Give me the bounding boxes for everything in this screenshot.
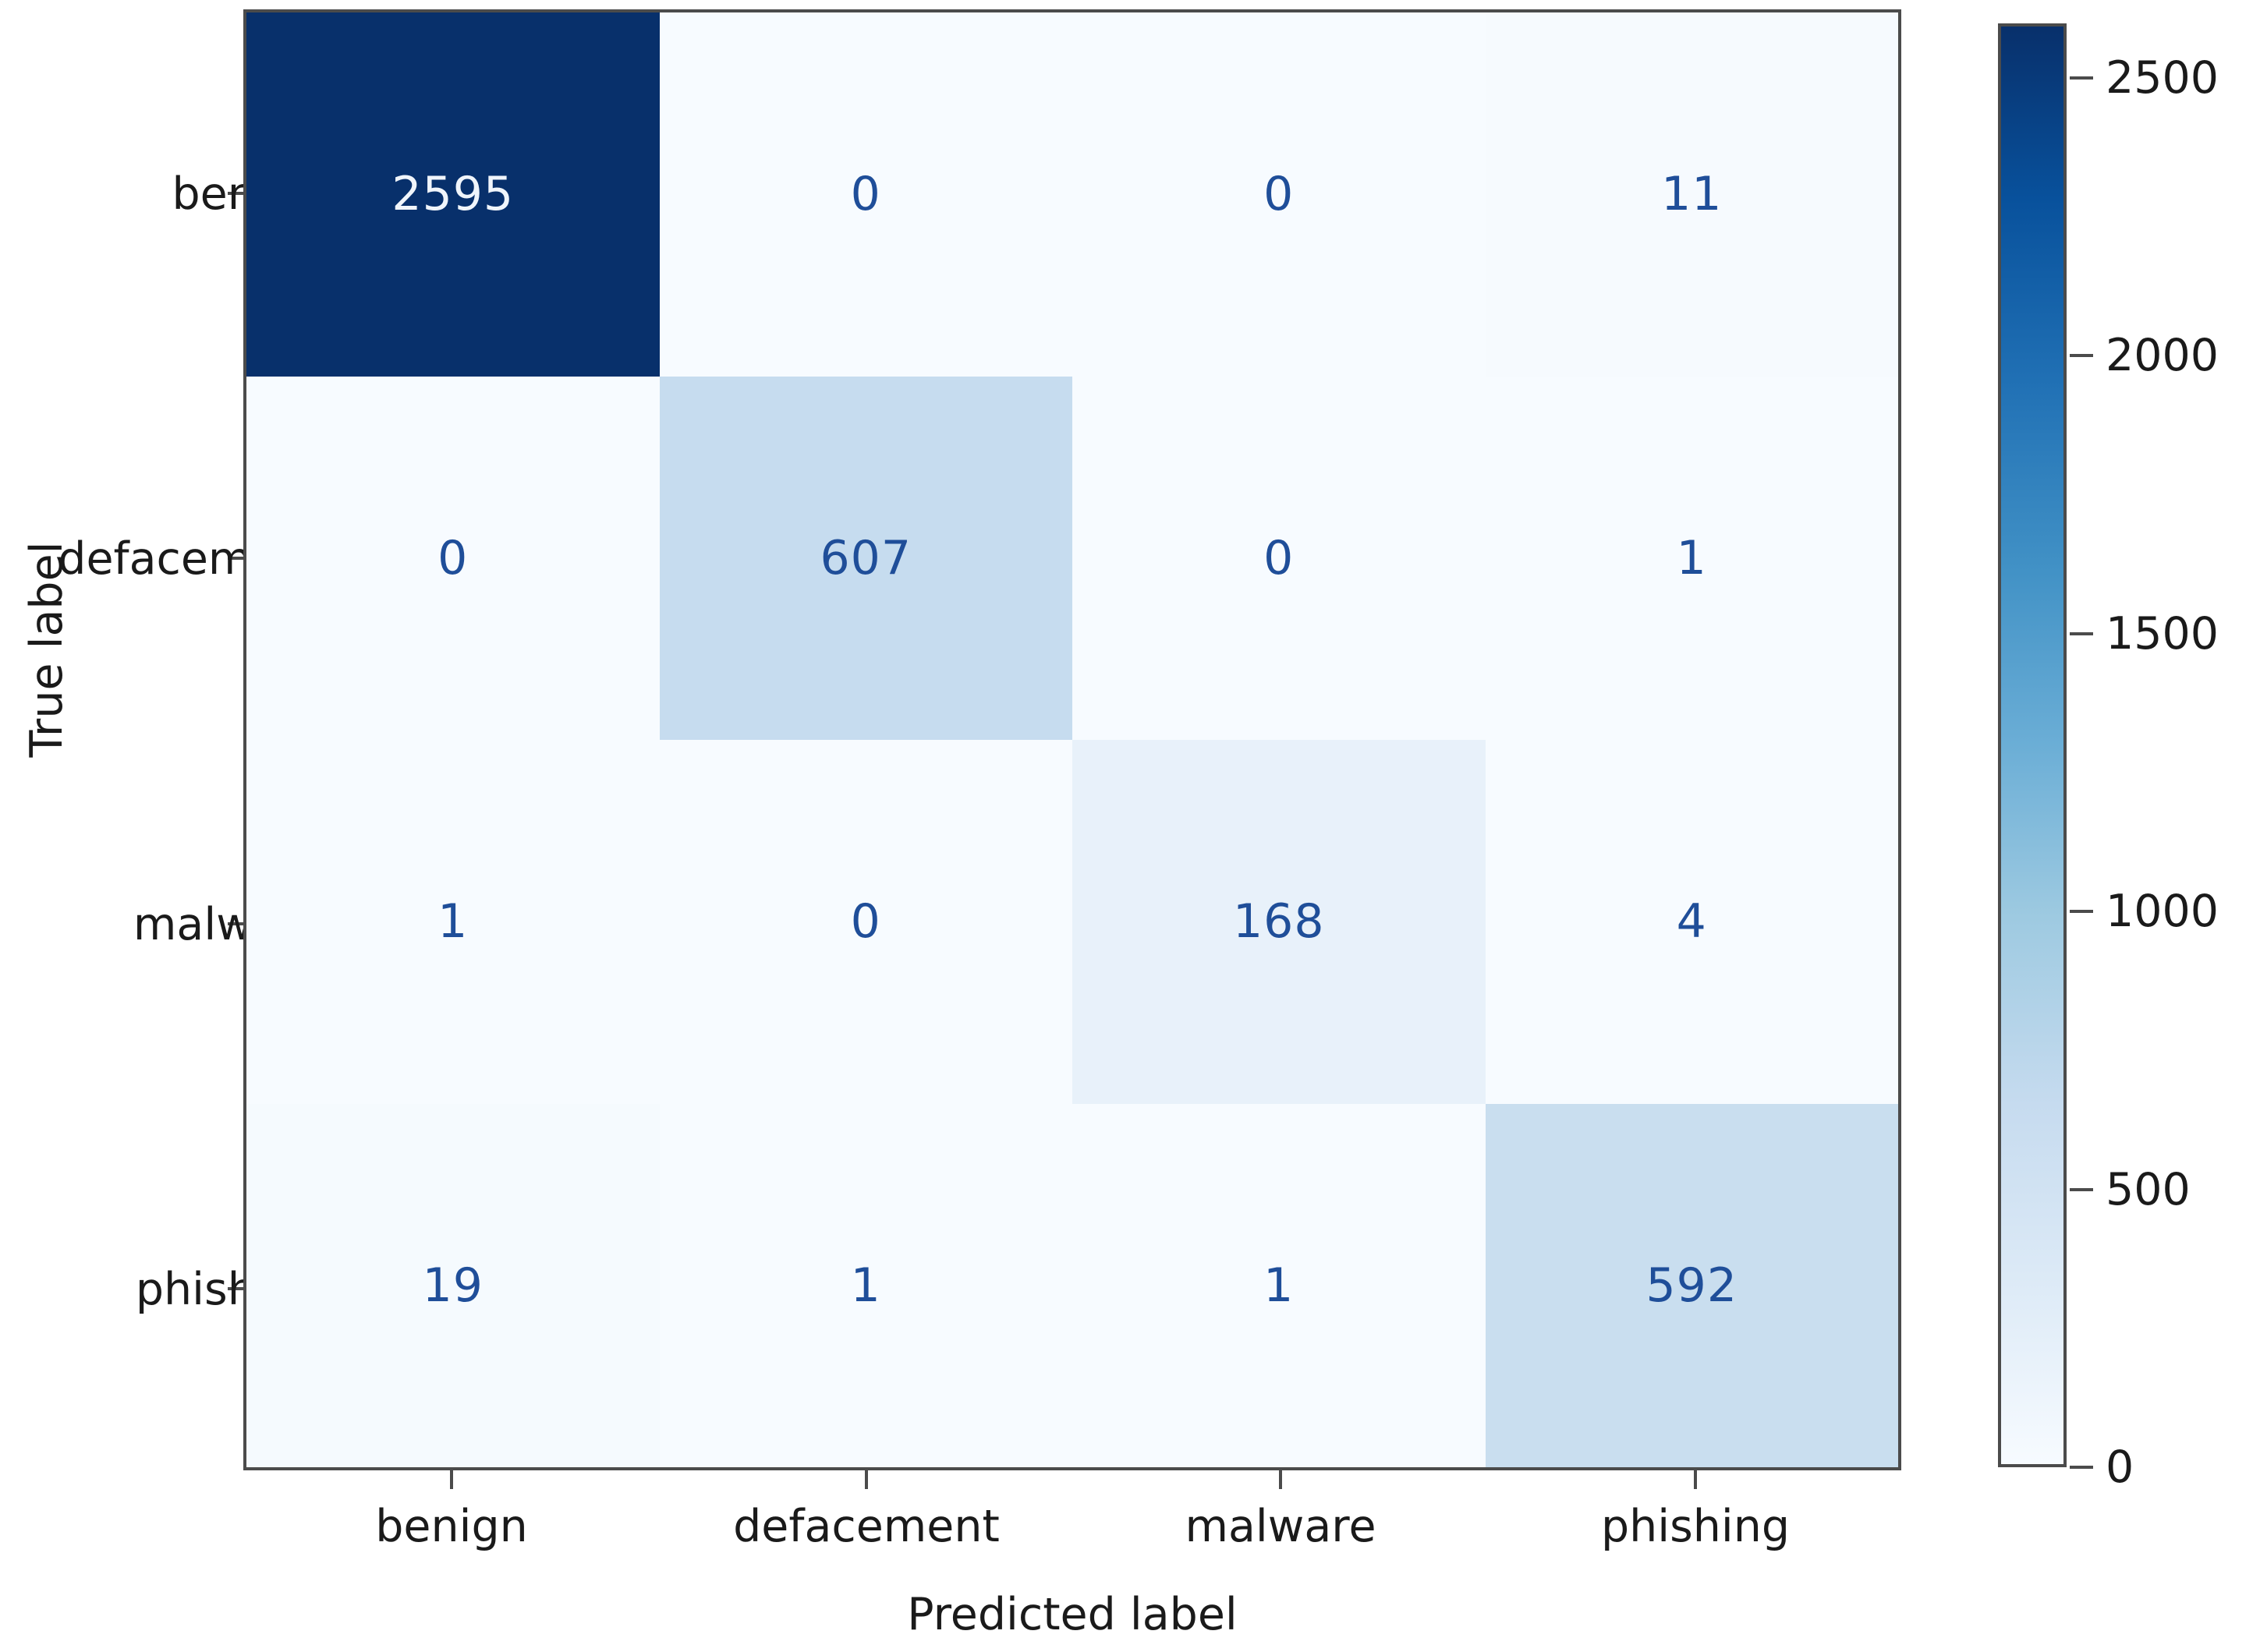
heatmap-cell-benign-defacement: 0 [660,12,1073,377]
confusion-matrix-figure: True label benign defacement malware phi… [0,0,2260,1652]
colorbar-tick-label-1000: 1000 [2106,886,2219,937]
heatmap-cell-defacement-benign: 0 [246,377,660,741]
heatmap-cell-benign-malware: 0 [1072,12,1486,377]
cell-value: 592 [1645,1262,1738,1309]
cell-value: 1 [851,1262,881,1309]
cell-value: 1 [1677,535,1707,582]
cell-value: 0 [851,898,881,945]
heatmap-cell-defacement-malware: 0 [1072,377,1486,741]
cell-value: 0 [1263,171,1294,218]
colorbar [1998,23,2067,1467]
cell-value: 0 [851,171,881,218]
cell-value: 0 [437,535,468,582]
heatmap-cell-phishing-defacement: 1 [660,1104,1073,1468]
heatmap-cell-phishing-benign: 19 [246,1104,660,1468]
colorbar-tick-mark-1500 [2070,632,2093,635]
x-tick-label-malware: malware [1047,1501,1514,1552]
heatmap-cell-defacement-defacement: 607 [660,377,1073,741]
colorbar-tick-mark-1000 [2070,910,2093,913]
x-tick-mark-2 [1279,1470,1282,1489]
x-axis-title: Predicted label [243,1589,1901,1640]
heatmap-plot-area: 2595 0 0 11 0 607 0 1 [243,9,1901,1470]
cell-value: 168 [1233,898,1325,945]
cell-value: 2595 [391,171,514,218]
heatmap-cell-benign-benign: 2595 [246,12,660,377]
colorbar-tick-mark-0 [2070,1466,2093,1469]
heatmap-cell-malware-defacement: 0 [660,740,1073,1104]
heatmap-cell-grid: 2595 0 0 11 0 607 0 1 [246,12,1898,1467]
heatmap-cell-phishing-malware: 1 [1072,1104,1486,1468]
colorbar-tick-mark-2500 [2070,76,2093,80]
colorbar-gradient [2001,27,2063,1464]
x-tick-mark-0 [450,1470,453,1489]
colorbar-tick-mark-500 [2070,1188,2093,1191]
cell-value: 0 [1263,535,1294,582]
heatmap-cell-phishing-phishing: 592 [1486,1104,1899,1468]
heatmap-cell-malware-phishing: 4 [1486,740,1899,1104]
heatmap-cell-benign-phishing: 11 [1486,12,1899,377]
x-tick-mark-1 [865,1470,868,1489]
x-tick-label-benign: benign [218,1501,685,1552]
colorbar-tick-mark-2000 [2070,354,2093,357]
colorbar-tick-label-2000: 2000 [2106,330,2219,381]
heatmap-cell-malware-malware: 168 [1072,740,1486,1104]
cell-value: 4 [1677,898,1707,945]
x-tick-label-defacement: defacement [632,1501,1100,1552]
colorbar-tick-label-0: 0 [2106,1442,2134,1493]
colorbar-tick-label-500: 500 [2106,1164,2191,1215]
cell-value: 19 [423,1262,484,1309]
colorbar-tick-label-2500: 2500 [2106,52,2219,104]
heatmap-cell-defacement-phishing: 1 [1486,377,1899,741]
heatmap-cell-malware-benign: 1 [246,740,660,1104]
cell-value: 11 [1661,171,1722,218]
cell-value: 1 [1263,1262,1294,1309]
cell-value: 1 [437,898,468,945]
colorbar-tick-label-1500: 1500 [2106,608,2219,660]
cell-value: 607 [820,535,912,582]
x-tick-mark-3 [1694,1470,1697,1489]
x-tick-label-phishing: phishing [1461,1501,1929,1552]
